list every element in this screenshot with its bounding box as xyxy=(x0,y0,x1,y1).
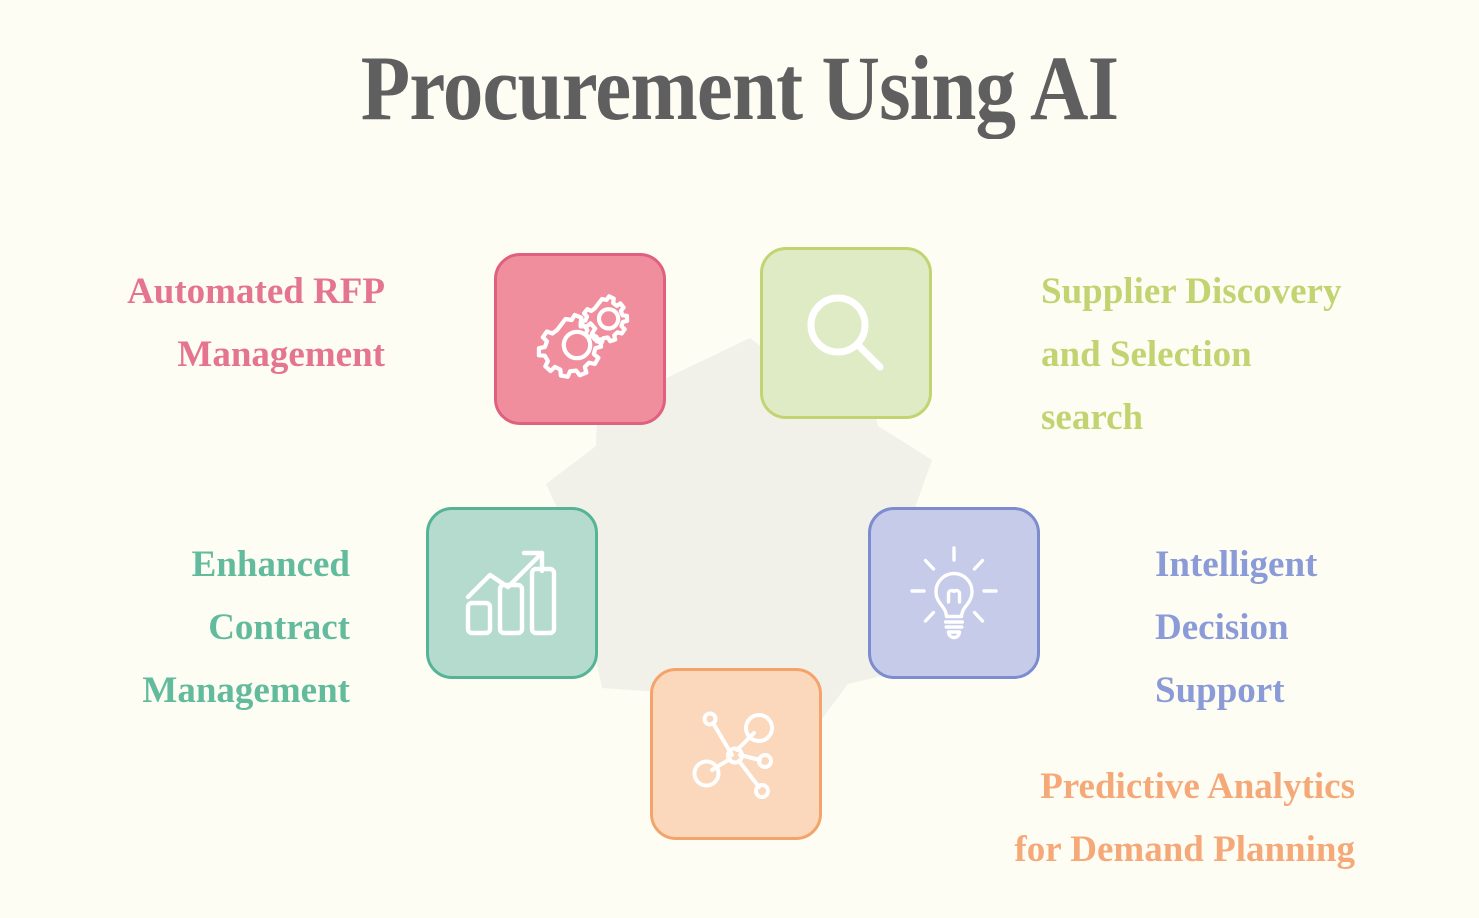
label-automated-rfp-management: Automated RFP Management xyxy=(40,260,385,386)
network-nodes-icon xyxy=(688,706,784,802)
tile-intelligent-decision-support[interactable] xyxy=(868,507,1040,679)
lightbulb-icon xyxy=(905,544,1003,642)
gears-icon xyxy=(529,293,631,385)
tile-automated-rfp-management[interactable] xyxy=(494,253,666,425)
label-enhanced-contract-management: Enhanced Contract Management xyxy=(40,533,350,722)
label-predictive-analytics-for-demand-planning: Predictive Analytics for Demand Planning xyxy=(905,755,1355,881)
tile-supplier-discovery-and-selection[interactable] xyxy=(760,247,932,419)
bar-chart-growth-icon xyxy=(464,547,560,639)
label-intelligent-decision-support: Intelligent Decision Support xyxy=(1155,533,1455,722)
search-icon xyxy=(800,287,892,379)
tile-predictive-analytics-for-demand-planning[interactable] xyxy=(650,668,822,840)
tile-enhanced-contract-management[interactable] xyxy=(426,507,598,679)
page-title: Procurement Using AI xyxy=(89,36,1391,140)
label-supplier-discovery-and-selection: Supplier Discovery and Selection search xyxy=(1041,260,1441,449)
infographic-canvas: Procurement Using AI xyxy=(0,0,1479,918)
